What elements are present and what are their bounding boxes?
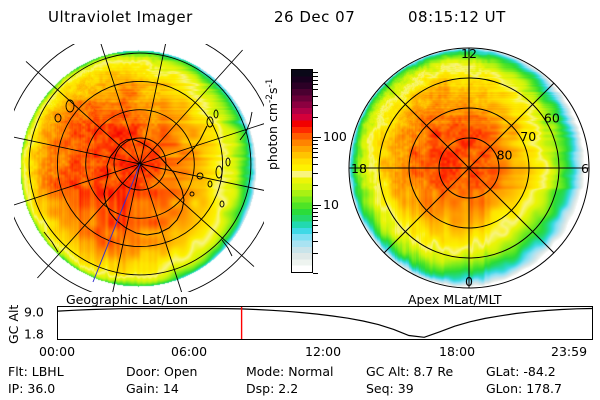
- apex-polar-grid: 121860607080: [344, 44, 594, 292]
- status-field-value: LBHL: [28, 364, 64, 379]
- colorbar[interactable]: 10010: [291, 69, 313, 273]
- status-field-label: Flt:: [8, 364, 28, 379]
- colorbar-tick: [313, 76, 318, 77]
- colorbar-tick: [313, 173, 318, 174]
- status-field-label: GC Alt:: [366, 364, 410, 379]
- colorbar-tick: [313, 164, 318, 165]
- mlat-ring-label-60: 60: [544, 111, 560, 126]
- time-tick-label: 00:00: [39, 344, 75, 359]
- status-field: Mode: Normal: [246, 364, 333, 379]
- colorbar-tick: [313, 220, 318, 221]
- status-field: GLon: 178.7: [486, 381, 562, 396]
- orbit-altitude-trace: [58, 307, 592, 339]
- colorbar-tick: [313, 185, 318, 186]
- status-field-value: -84.2: [519, 364, 555, 379]
- apex-image-panel[interactable]: 121860607080: [344, 44, 594, 292]
- colorbar-tick: [313, 105, 318, 106]
- status-field-label: GLon:: [486, 381, 522, 396]
- colorbar-title-main: photon cm: [265, 103, 280, 170]
- observation-time: 08:15:12 UT: [408, 8, 506, 26]
- colorbar-tick: [313, 117, 318, 118]
- colorbar-title-exp1: -2: [265, 94, 275, 103]
- mlt-label-18: 18: [351, 161, 367, 176]
- status-field-value: 178.7: [522, 381, 562, 396]
- status-field-value: 39: [394, 381, 414, 396]
- colorbar-title-exp2: -1: [265, 79, 275, 88]
- time-tick-label: 18:00: [439, 344, 475, 359]
- status-field-value: 8.7 Re: [410, 364, 454, 379]
- status-field-label: IP:: [8, 381, 23, 396]
- header-bar: Ultraviolet Imager 26 Dec 07 08:15:12 UT: [0, 8, 600, 32]
- colorbar-tick: [313, 140, 318, 141]
- colorbar-title-mid: s: [265, 88, 280, 95]
- mlt-label-0: 0: [465, 274, 473, 289]
- status-panel: Flt: LBHLDoor: OpenMode: NormalGC Alt: 8…: [0, 364, 600, 400]
- colorbar-tick: [313, 144, 318, 145]
- status-field-label: Mode:: [246, 364, 284, 379]
- orbit-ytick-max: 9.0: [24, 305, 44, 320]
- colorbar-tick: [313, 232, 318, 233]
- colorbar-tick: [313, 96, 318, 97]
- status-field: Gain: 14: [126, 381, 179, 396]
- mlat-ring-label-80: 80: [497, 148, 513, 163]
- colorbar-tick: [313, 216, 318, 217]
- status-field: Flt: LBHL: [8, 364, 64, 379]
- status-field-label: Door:: [126, 364, 160, 379]
- colorbar-tick: [313, 273, 318, 274]
- mlt-label-12: 12: [461, 46, 477, 61]
- colorbar-tick-label: 10: [323, 199, 339, 212]
- status-field: GLat: -84.2: [486, 364, 556, 379]
- colorbar-tick: [313, 148, 318, 149]
- colorbar-tick: [313, 205, 321, 206]
- observation-date: 26 Dec 07: [274, 8, 355, 26]
- status-field: Seq: 39: [366, 381, 414, 396]
- colorbar-gradient: [291, 69, 313, 273]
- instrument-title: Ultraviolet Imager: [48, 8, 193, 26]
- geographic-graticule: [14, 44, 264, 292]
- geographic-caption: Geographic Lat/Lon: [66, 292, 188, 307]
- colorbar-tick: [313, 225, 318, 226]
- orbit-altitude-plot[interactable]: [57, 306, 593, 340]
- status-field-value: Normal: [284, 364, 333, 379]
- status-field: Door: Open: [126, 364, 197, 379]
- apex-caption: Apex MLat/MLT: [408, 292, 502, 307]
- status-field: GC Alt: 8.7 Re: [366, 364, 453, 379]
- colorbar-tick: [313, 137, 321, 138]
- colorbar-tick: [313, 208, 318, 209]
- status-field-label: Dsp:: [246, 381, 274, 396]
- colorbar-tick: [313, 84, 318, 85]
- time-tick-label: 23:59: [551, 344, 587, 359]
- colorbar-tick: [313, 157, 318, 158]
- status-field-label: Gain:: [126, 381, 159, 396]
- altitude-curve: [58, 309, 592, 338]
- time-tick-label: 06:00: [171, 344, 207, 359]
- mlt-label-6: 6: [581, 161, 589, 176]
- status-field-value: 2.2: [274, 381, 298, 396]
- colorbar-tick: [313, 241, 318, 242]
- colorbar-tick: [313, 253, 318, 254]
- geographic-image-panel[interactable]: [14, 44, 264, 292]
- status-field-value: 36.0: [23, 381, 55, 396]
- mlat-ring-label-70: 70: [520, 129, 536, 144]
- colorbar-tick: [313, 212, 318, 213]
- status-field: Dsp: 2.2: [246, 381, 298, 396]
- colorbar-tick: [313, 152, 318, 153]
- colorbar-tick: [313, 72, 318, 73]
- status-field-label: GLat:: [486, 364, 519, 379]
- colorbar-axis-title: photon cm-2s-1: [265, 79, 280, 170]
- orbit-yaxis-title: GC Alt: [6, 305, 21, 344]
- colorbar-tick: [313, 89, 318, 90]
- status-field-label: Seq:: [366, 381, 394, 396]
- colorbar-tick: [313, 80, 318, 81]
- status-field-value: 14: [159, 381, 179, 396]
- status-field: IP: 36.0: [8, 381, 55, 396]
- orbit-ytick-min: 1.8: [24, 327, 44, 342]
- status-field-value: Open: [160, 364, 197, 379]
- time-tick-label: 12:00: [305, 344, 341, 359]
